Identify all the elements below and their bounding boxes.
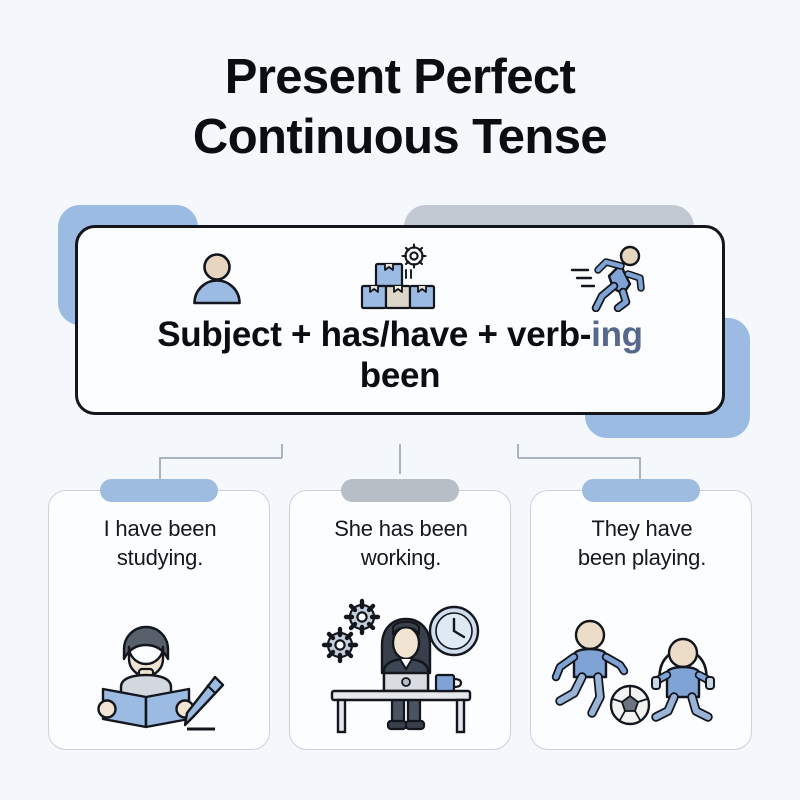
example-line-1: They have [541,515,743,544]
formula-text: Subject + has/have + verb-ing been [78,314,722,397]
person-icon [186,248,248,315]
children-playing-icon [531,585,751,735]
example-text-studying: I have been studying. [59,515,261,572]
title-line-1: Present Perfect [0,48,800,108]
title-line-2: Continuous Tense [0,108,800,168]
card-tab-studying [100,479,218,502]
example-line-2: been playing. [541,544,743,573]
example-card-working[interactable]: She has been working. [289,490,511,750]
example-line-2: studying. [59,544,261,573]
example-line-1: She has been [300,515,502,544]
formula-auxiliary-line2: been [78,355,722,396]
example-card-studying[interactable]: I have been studying. [48,490,270,750]
formula-verb-stem: verb- [507,315,591,354]
example-text-working: She has been working. [300,515,502,572]
example-card-playing[interactable]: They have been playing. [530,490,752,750]
formula-plus-2: + [477,315,497,354]
formula-auxiliary-line1: has/have [321,315,468,354]
page-title: Present Perfect Continuous Tense [0,48,800,168]
card-tab-working [341,479,459,502]
formula-subject: Subject [157,315,281,354]
student-reading-book-icon [49,585,269,735]
card-tab-playing [582,479,700,502]
stacked-boxes-gear-icon [350,242,440,319]
example-line-2: working. [300,544,502,573]
formula-plus-1: + [291,315,311,354]
formula-verb-suffix: ing [591,315,643,354]
running-person-icon [568,244,648,317]
example-line-1: I have been [59,515,261,544]
formula-box: Subject + has/have + verb-ing been [75,225,725,415]
formula-icon-row [78,242,722,314]
woman-working-laptop-icon [290,585,510,735]
example-text-playing: They have been playing. [541,515,743,572]
